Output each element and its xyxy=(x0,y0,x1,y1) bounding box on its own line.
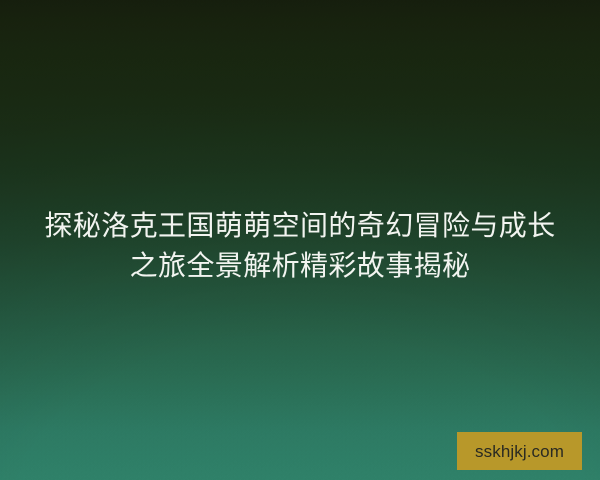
headline-line-2: 之旅全景解析精彩故事揭秘 xyxy=(24,246,576,286)
title-card-canvas: 探秘洛克王国萌萌空间的奇幻冒险与成长 之旅全景解析精彩故事揭秘 sskhjkj.… xyxy=(0,0,600,480)
watermark-badge: sskhjkj.com xyxy=(457,432,582,470)
watermark-domain-label: sskhjkj.com xyxy=(475,443,564,460)
headline-text-block: 探秘洛克王国萌萌空间的奇幻冒险与成长 之旅全景解析精彩故事揭秘 xyxy=(0,206,600,286)
headline-line-1: 探秘洛克王国萌萌空间的奇幻冒险与成长 xyxy=(24,206,576,246)
